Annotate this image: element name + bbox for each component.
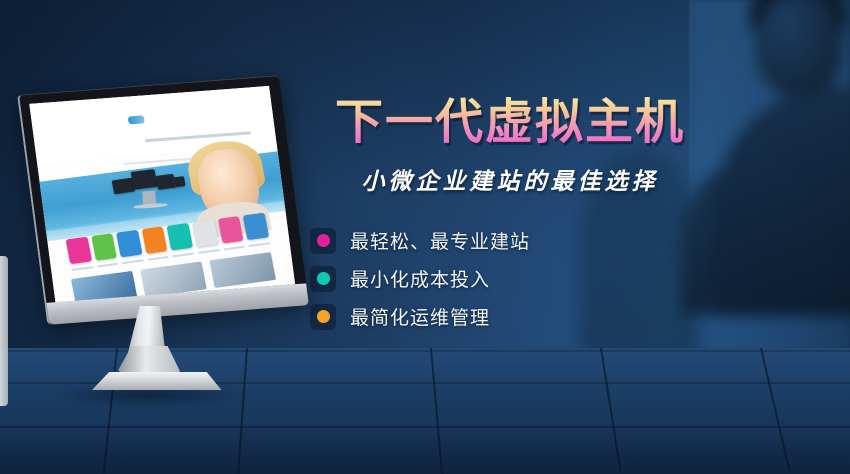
site-icon-6-label [198,249,220,254]
site-icon-5 [167,223,193,251]
site-icon-1 [66,237,92,265]
site-icon-2-label [97,263,119,268]
bullet-dot-orange [310,304,336,330]
imac-stand-base [89,372,222,390]
banner-copy: 下一代虚拟主机 小微企业建站的最佳选择 最轻松、最专业建站 最小化成本投入 最简… [296,96,716,336]
site-icon-8 [243,213,269,241]
foreground-left-object [0,256,8,406]
bullet-dot-teal [310,266,336,292]
site-icon-4-label [147,256,169,261]
feature-list: 最轻松、最专业建站 最小化成本投入 最简化运维管理 [296,222,716,336]
site-icon-8-label [249,242,271,247]
imac-display [8,84,298,396]
imac-screen [29,86,295,302]
feature-text: 最小化成本投入 [350,265,490,292]
site-icon-4 [142,226,168,254]
hosting-banner: 下一代虚拟主机 小微企业建站的最佳选择 最轻松、最专业建站 最小化成本投入 最简… [0,0,850,474]
site-icon-5-label [173,252,195,257]
site-icon-7-label [223,246,245,251]
list-item: 最简化运维管理 [310,298,716,336]
site-icon-6 [192,219,218,247]
site-icon-3-label [122,259,144,264]
site-logo-icon [128,115,145,124]
site-icon-7 [218,216,244,244]
dot-glyph [317,234,330,247]
list-item: 最轻松、最专业建站 [310,222,716,260]
banner-title: 下一代虚拟主机 [296,96,716,150]
dot-glyph [317,272,330,285]
feature-text: 最简化运维管理 [350,303,490,330]
site-device-cluster [110,158,198,216]
website-preview [29,86,295,302]
site-icon-3 [116,230,142,258]
feature-text: 最轻松、最专业建站 [350,227,530,254]
dot-glyph [317,310,330,323]
site-icon-2 [91,233,117,261]
banner-subtitle: 小微企业建站的最佳选择 [296,162,716,196]
site-icon-1-label [71,266,93,271]
list-item: 最小化成本投入 [310,260,716,298]
bullet-dot-magenta [310,228,336,254]
